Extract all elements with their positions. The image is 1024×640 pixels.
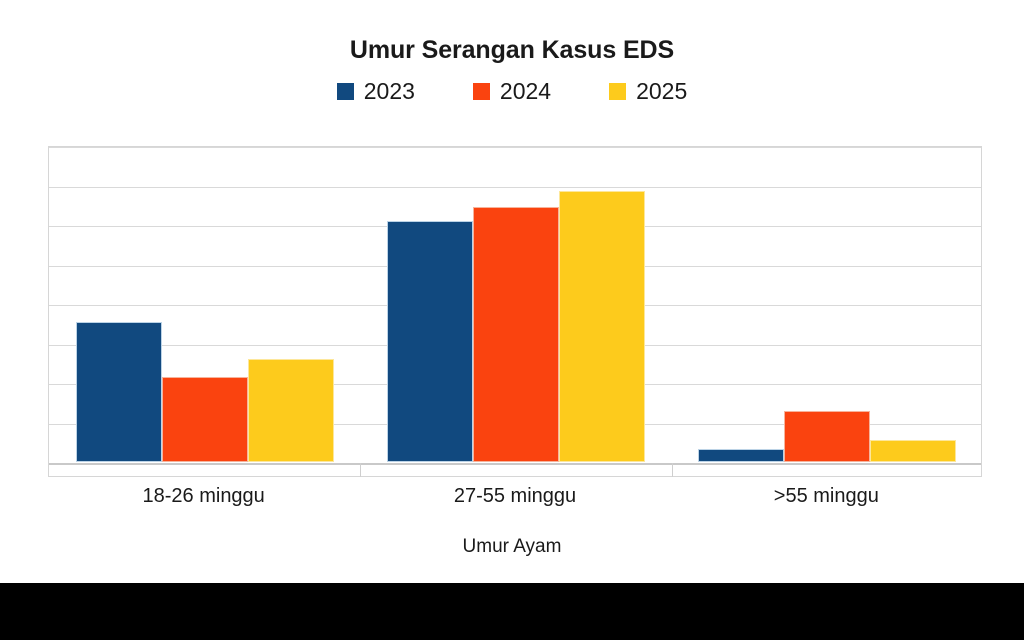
plot-area (48, 146, 982, 477)
category-tick (360, 463, 361, 477)
chart-legend: 2023 2024 2025 (0, 80, 1024, 103)
x-axis-label-1: 27-55 minggu (359, 485, 670, 508)
x-axis-label-0: 18-26 minggu (48, 485, 359, 508)
legend-item-2023[interactable]: 2023 (337, 80, 415, 103)
bars-layer (49, 147, 981, 476)
legend-swatch-icon-2024 (473, 83, 490, 100)
footer-caption-band (0, 583, 1024, 640)
legend-item-2024[interactable]: 2024 (473, 80, 551, 103)
legend-label-2025: 2025 (636, 80, 687, 103)
legend-swatch-icon-2023 (337, 83, 354, 100)
legend-swatch-icon-2025 (609, 83, 626, 100)
bar-2025-27-55-minggu[interactable] (559, 191, 645, 462)
legend-item-2025[interactable]: 2025 (609, 80, 687, 103)
x-axis-category-labels: 18-26 minggu27-55 minggu>55 minggu (48, 485, 982, 515)
bar-2025-18-26-minggu[interactable] (248, 359, 334, 462)
category-tick (672, 463, 673, 477)
bar-2024-27-55-minggu[interactable] (473, 207, 559, 462)
bar-2024-18-26-minggu[interactable] (162, 377, 248, 462)
chart-screenshot: Umur Serangan Kasus EDS 2023 2024 2025 1… (0, 0, 1024, 640)
x-axis-label-2: >55 minggu (671, 485, 982, 508)
bar-2025--55-minggu[interactable] (870, 440, 956, 462)
legend-label-2023: 2023 (364, 80, 415, 103)
chart-title: Umur Serangan Kasus EDS (0, 36, 1024, 65)
bar-2023-27-55-minggu[interactable] (387, 221, 473, 462)
bar-2023--55-minggu[interactable] (698, 449, 784, 462)
legend-label-2024: 2024 (500, 80, 551, 103)
bar-2023-18-26-minggu[interactable] (76, 322, 162, 462)
x-axis-title: Umur Ayam (0, 536, 1024, 558)
bar-2024--55-minggu[interactable] (784, 411, 870, 462)
